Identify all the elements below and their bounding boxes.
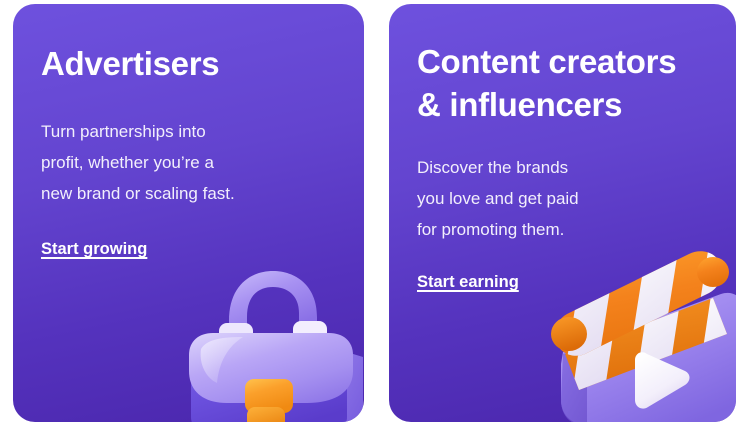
briefcase-3d-icon: [167, 251, 364, 422]
card-advertisers-title: Advertisers: [41, 42, 334, 85]
clapperboard-3d-icon: [543, 242, 736, 422]
card-advertisers[interactable]: Advertisers Turn partnerships into profi…: [13, 4, 364, 422]
start-growing-link[interactable]: Start growing: [41, 240, 147, 259]
card-creators-body: Discover the brands you love and get pai…: [417, 152, 706, 245]
promo-cards-row: Advertisers Turn partnerships into profi…: [0, 0, 750, 430]
start-earning-link[interactable]: Start earning: [417, 273, 519, 292]
card-creators-title: Content creators & influencers: [417, 40, 706, 126]
card-advertisers-body: Turn partnerships into profit, whether y…: [41, 116, 334, 209]
card-creators[interactable]: Content creators & influencers Discover …: [389, 4, 736, 422]
